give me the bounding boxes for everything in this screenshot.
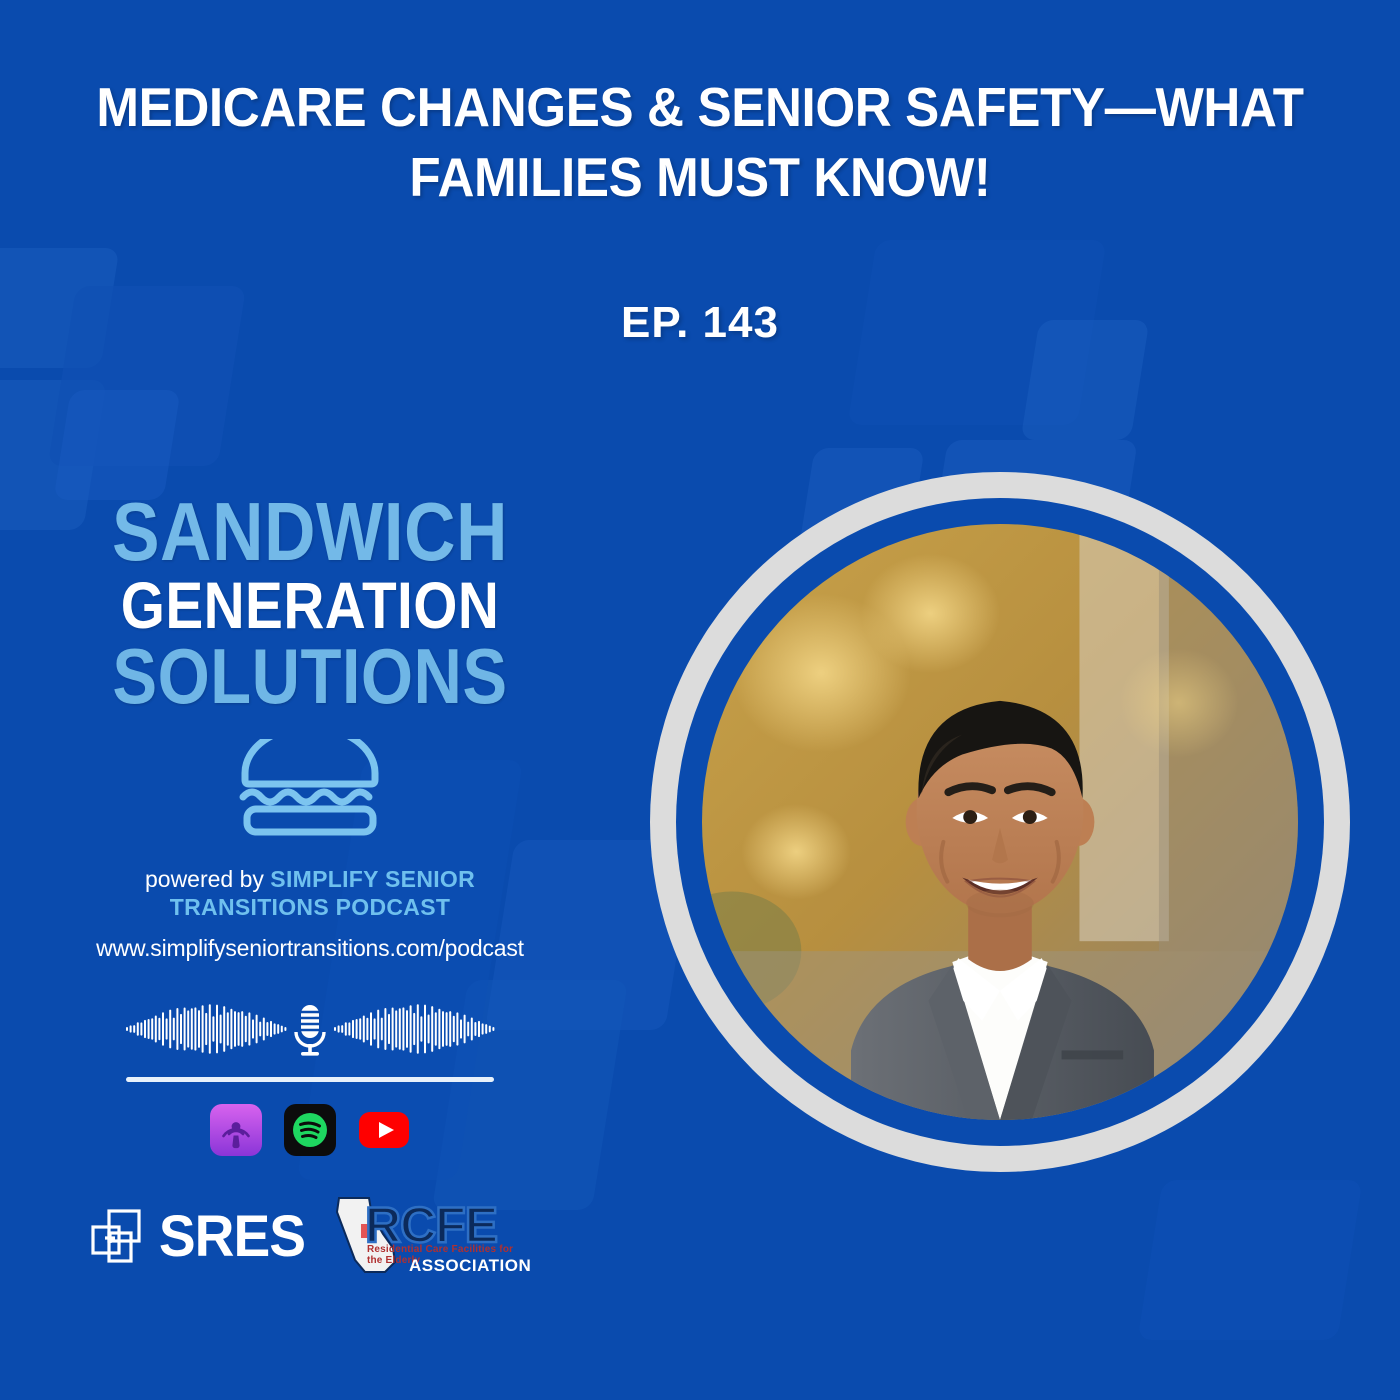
youtube-icon[interactable] — [358, 1104, 410, 1156]
title-block: MEDICARE CHANGES & SENIOR SAFETY—WHAT FA… — [0, 72, 1400, 213]
logo-line-solutions: SOLUTIONS — [43, 641, 576, 711]
deco-rect-left-4 — [53, 390, 180, 500]
guest-portrait — [650, 472, 1350, 1172]
podcast-url: www.simplifyseniortransitions.com/podcas… — [0, 935, 620, 962]
waveform-block — [0, 996, 620, 1082]
headshot-illustration — [702, 524, 1298, 1120]
sres-mark-icon — [89, 1207, 143, 1265]
sres-logo: SRES — [89, 1203, 309, 1270]
episode-number: EP. 143 — [0, 298, 1400, 348]
rcfe-logo: RCFE Residential Care Facilities for the… — [331, 1194, 531, 1278]
page-title: MEDICARE CHANGES & SENIOR SAFETY—WHAT FA… — [49, 72, 1351, 213]
powered-by-block: powered by SIMPLIFY SENIOR TRANSITIONS P… — [0, 865, 620, 962]
deco-rect-bottom-1 — [1137, 1180, 1362, 1340]
divider-line — [126, 1077, 494, 1082]
audio-waveform-microphone-icon — [120, 996, 500, 1062]
sres-label: SRES — [159, 1203, 305, 1270]
spotify-icon[interactable] — [284, 1104, 336, 1156]
brand-column: SANDWICH GENERATION SOLUTIONS powered by… — [0, 495, 620, 1278]
logo-line-generation: GENERATION — [43, 576, 576, 635]
sandwich-burger-icon — [235, 739, 385, 839]
rcfe-subtitle-2: ASSOCIATION — [409, 1256, 531, 1276]
partner-logos: SRES RCFE Residential Care Facilities fo… — [0, 1194, 620, 1278]
apple-podcasts-icon[interactable] — [210, 1104, 262, 1156]
platform-icons[interactable] — [0, 1104, 620, 1156]
powered-by-brand-line2: TRANSITIONS PODCAST — [170, 894, 450, 920]
logo-line-sandwich: SANDWICH — [43, 495, 576, 570]
powered-by-brand-line1: SIMPLIFY SENIOR — [270, 866, 475, 892]
portrait-photo — [702, 524, 1298, 1120]
powered-by-prefix: powered by — [145, 866, 270, 892]
